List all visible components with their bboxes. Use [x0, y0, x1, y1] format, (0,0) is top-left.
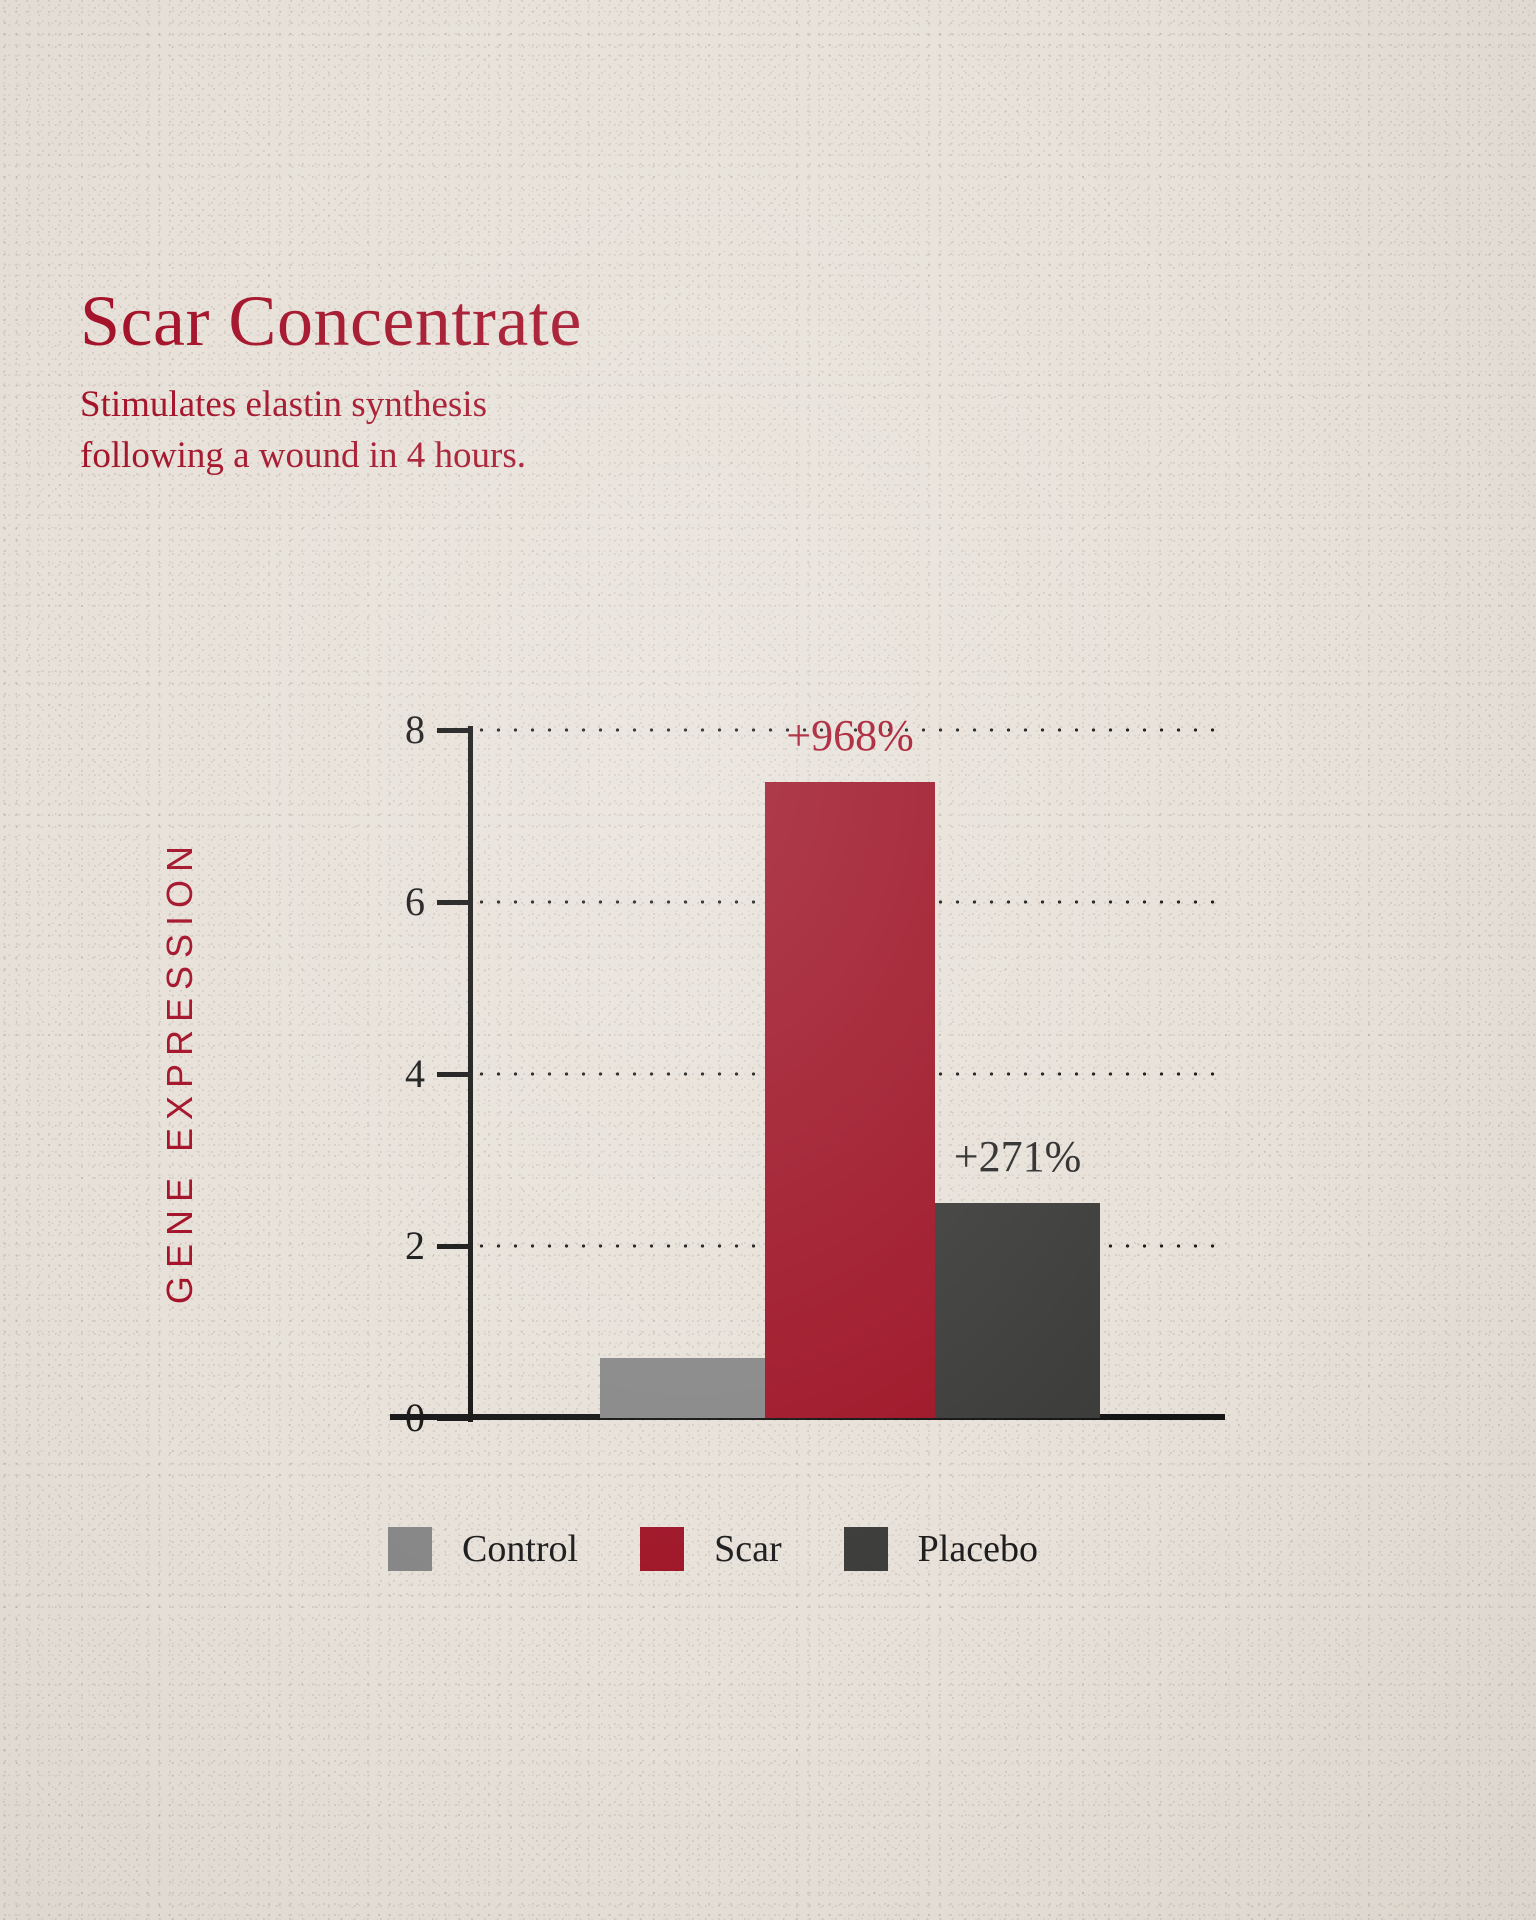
chart-legend: ControlScarPlacebo	[388, 1527, 1100, 1571]
legend-swatch-placebo	[844, 1527, 888, 1571]
legend-item-control[interactable]: Control	[388, 1527, 578, 1571]
bar-value-label-scar: +968%	[665, 714, 1035, 758]
bar-scar[interactable]	[765, 782, 935, 1418]
bar-chart: GENE EXPRESSION 02468 +968%+271% Control…	[0, 0, 1536, 1920]
legend-swatch-control	[388, 1527, 432, 1571]
legend-item-scar[interactable]: Scar	[640, 1527, 782, 1571]
bar-control[interactable]	[600, 1358, 765, 1418]
legend-item-placebo[interactable]: Placebo	[844, 1527, 1038, 1571]
bar-placebo[interactable]	[935, 1203, 1100, 1418]
legend-label: Scar	[714, 1530, 782, 1568]
legend-label: Placebo	[918, 1530, 1038, 1568]
bar-value-label-placebo: +271%	[835, 1135, 1200, 1179]
legend-swatch-scar	[640, 1527, 684, 1571]
legend-label: Control	[462, 1530, 578, 1568]
bar-series	[0, 0, 1536, 1418]
